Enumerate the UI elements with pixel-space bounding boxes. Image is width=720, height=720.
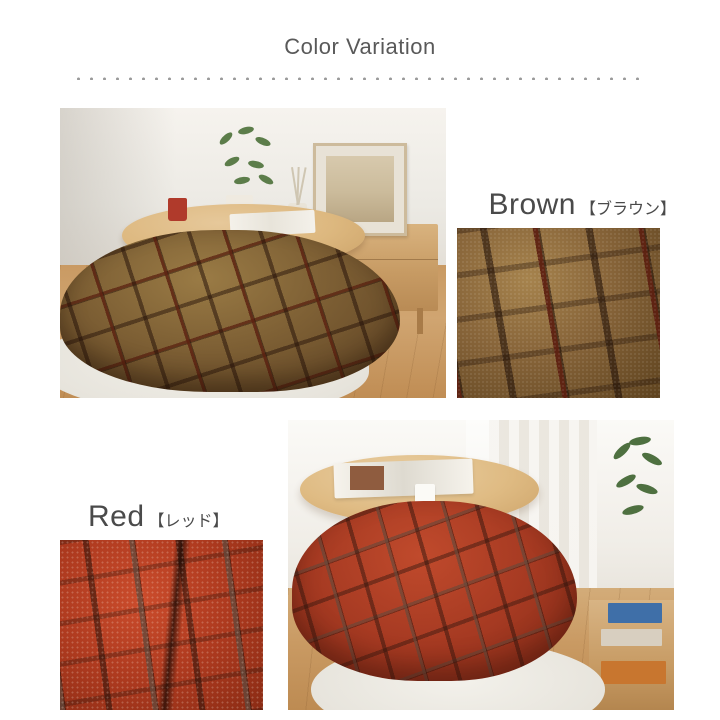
red-mug [168, 198, 187, 221]
leaf [629, 436, 652, 446]
leaf [614, 472, 637, 489]
picture-frame-art [326, 156, 393, 222]
magazine-photo [350, 466, 385, 489]
leaf [218, 131, 235, 146]
sideboard-leg [417, 308, 423, 334]
potted-plant-foliage [608, 437, 670, 536]
leaf [238, 126, 255, 135]
leaf [640, 450, 663, 468]
leaf [233, 177, 250, 185]
shelf-book [601, 629, 663, 646]
leaf [224, 155, 241, 167]
label-red: Red 【レッド】 [88, 500, 229, 534]
fabric-seam [156, 540, 192, 710]
label-brown: Brown 【ブラウン】 [488, 188, 676, 222]
leaf [258, 172, 275, 187]
kotatsu-quilt-red [292, 501, 578, 681]
photo-swatch-red [60, 540, 263, 710]
label-red-jp: 【レッド】 [149, 507, 229, 531]
shelf-book [608, 603, 662, 623]
dotted-divider [72, 74, 648, 80]
photo-swatch-brown [457, 228, 660, 398]
kotatsu-quilt-brown [60, 230, 400, 392]
leaf [255, 135, 272, 149]
label-red-en: Red [88, 500, 145, 534]
label-brown-jp: 【ブラウン】 [580, 195, 676, 219]
shelf-book [601, 661, 667, 684]
photo-room-red [288, 420, 674, 710]
photo-room-brown [60, 108, 446, 398]
page-title: Color Variation [0, 34, 720, 60]
leaf [635, 481, 658, 497]
leaf [621, 504, 644, 516]
label-brown-en: Brown [488, 188, 576, 222]
leaf [247, 159, 264, 171]
